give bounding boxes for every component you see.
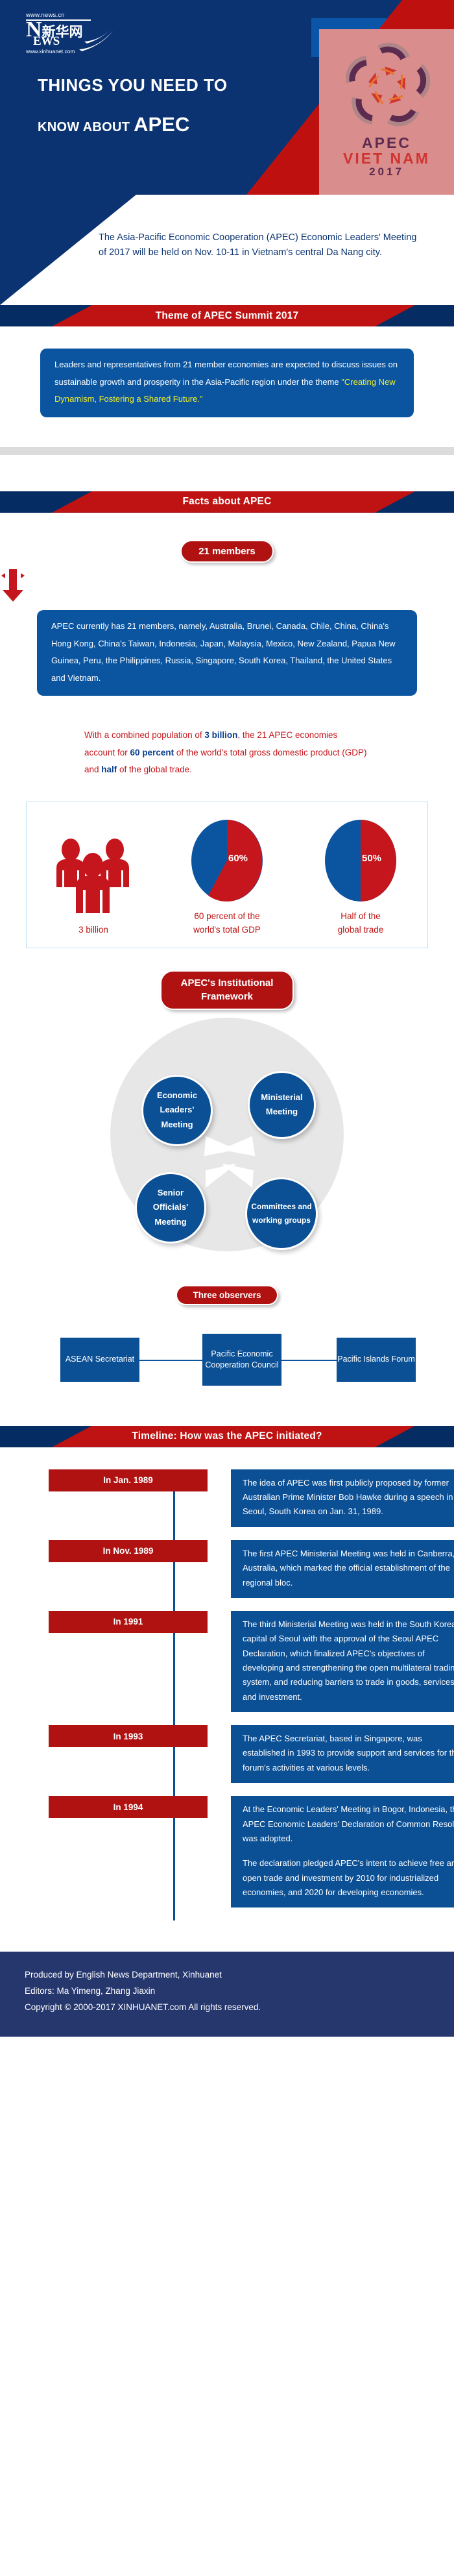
stat-trade-caption-l1: Half of the <box>302 910 419 924</box>
header-banner: APEC VIET NAM 2017 www.news.cn N 新华网 EWS… <box>0 0 454 195</box>
bubble-committees-working-groups[interactable]: Committees and working groups <box>245 1177 318 1250</box>
stat-trade-caption-l2: global trade <box>302 924 419 937</box>
footer: Produced by English News Department, Xin… <box>0 1952 454 2037</box>
pie-trade-value: 50% <box>362 853 381 864</box>
xinhua-logo[interactable]: www.news.cn N 新华网 EWS www.xinhuanet.com <box>26 12 104 55</box>
pill-21-members[interactable]: 21 members <box>180 540 274 563</box>
timeline-body: The APEC Secretariat, based in Singapore… <box>231 1725 454 1783</box>
stat-gdp: 60% 60 percent of the world's total GDP <box>169 819 285 937</box>
timeline-entry: In Nov. 1989 The first APEC Ministerial … <box>0 1540 454 1598</box>
pie-gdp-svg <box>191 819 263 902</box>
framework-pill-wrap: APEC's Institutional Framework <box>0 970 454 1010</box>
people-icon <box>51 833 136 916</box>
combined-stats-text: With a combined population of 3 billion,… <box>0 727 454 778</box>
stats-row: 3 billion 60% 60 percent of the world's … <box>27 819 427 937</box>
bubble-economic-leaders-meeting[interactable]: Economic Leaders' Meeting <box>141 1075 213 1146</box>
stat-gdp-caption-l1: 60 percent of the <box>169 910 285 924</box>
bubble-som-l1: Senior <box>153 1186 188 1201</box>
pill-institutional-framework[interactable]: APEC's Institutional Framework <box>160 970 294 1010</box>
apec-wordmark: APEC VIET NAM 2017 <box>319 135 454 178</box>
bubble-som-l3: Meeting <box>153 1215 188 1230</box>
bubble-mm-l2: Meeting <box>261 1105 302 1120</box>
combined-bold-3: half <box>101 765 117 774</box>
timeline-body: The idea of APEC was first publicly prop… <box>231 1469 454 1527</box>
combined-text-1: With a combined population of <box>84 730 204 740</box>
banner-timeline: Timeline: How was the APEC initiated? <box>0 1426 454 1447</box>
theme-card-wrap: Leaders and representatives from 21 memb… <box>0 349 454 417</box>
stat-trade-caption: Half of the global trade <box>302 910 419 937</box>
framework-diagram: Economic Leaders' Meeting Ministerial Me… <box>0 1010 454 1282</box>
pill-framework-l2: Framework <box>201 991 253 1002</box>
footer-copyright: Copyright © 2000-2017 XINHUANET.com All … <box>25 2000 454 2016</box>
timeline-entry: In Jan. 1989 The idea of APEC was first … <box>0 1469 454 1527</box>
members-card-wrap: APEC currently has 21 members, namely, A… <box>0 610 454 696</box>
bubble-elm-l2: Leaders' <box>157 1103 197 1118</box>
timeline-body: The third Ministerial Meeting was held i… <box>231 1611 454 1712</box>
timeline-entry: In 1994 At the Economic Leaders' Meeting… <box>0 1796 454 1907</box>
stats-box: 3 billion 60% 60 percent of the world's … <box>26 802 428 948</box>
apec-emblem-icon <box>331 36 444 136</box>
headline-line2-small: KNOW ABOUT <box>38 120 130 134</box>
timeline-entry: In 1991 The third Ministerial Meeting wa… <box>0 1611 454 1712</box>
timeline-paragraph: The idea of APEC was first publicly prop… <box>243 1476 454 1519</box>
bubble-som-l2: Officials' <box>153 1200 188 1215</box>
swoosh-icon <box>78 26 115 52</box>
members-pill-wrap: 21 members <box>0 540 454 563</box>
observer-asean-secretariat[interactable]: ASEAN Secretariat <box>60 1338 139 1382</box>
stat-population-caption: 3 billion <box>35 924 152 937</box>
theme-card: Leaders and representatives from 21 memb… <box>40 349 414 417</box>
pill-three-observers[interactable]: Three observers <box>176 1285 278 1305</box>
observer-pacific-islands-forum[interactable]: Pacific Islands Forum <box>337 1338 416 1382</box>
combined-bold-2: 60 percent <box>130 748 174 757</box>
timeline-date-badge: In 1993 <box>49 1725 208 1747</box>
headline-line2-big: APEC <box>134 113 189 136</box>
banner-facts: Facts about APEC <box>0 491 454 513</box>
timeline-entry: In 1993 The APEC Secretariat, based in S… <box>0 1725 454 1783</box>
page-title: THINGS YOU NEED TO KNOW ABOUT APEC <box>38 75 317 136</box>
observers-diagram: ASEAN Secretariat Pacific Economic Coope… <box>0 1317 454 1401</box>
headline-line1: THINGS YOU NEED TO <box>38 75 317 96</box>
timeline-date-badge: In 1991 <box>49 1611 208 1633</box>
timeline-date-badge: In Nov. 1989 <box>49 1540 208 1562</box>
pie-chart-gdp: 60% <box>191 819 263 902</box>
timeline-paragraph: The first APEC Ministerial Meeting was h… <box>243 1547 454 1590</box>
pie-gdp-value: 60% <box>228 853 248 864</box>
framework-arrows <box>0 1010 454 1282</box>
timeline-dot <box>169 1477 178 1486</box>
bubble-elm-l3: Meeting <box>157 1118 197 1133</box>
intro-section: The Asia-Pacific Economic Cooperation (A… <box>0 195 454 305</box>
observers-pill-wrap: Three observers <box>0 1285 454 1305</box>
timeline-date-badge: In Jan. 1989 <box>49 1469 208 1491</box>
timeline-dot <box>169 1548 178 1557</box>
combined-text-4: of the global trade. <box>117 765 192 774</box>
timeline-dot <box>169 1733 178 1742</box>
bubble-ministerial-meeting[interactable]: Ministerial Meeting <box>248 1071 316 1139</box>
bubble-mm-l1: Ministerial <box>261 1090 302 1105</box>
section-divider <box>0 447 454 455</box>
infographic-page: APEC VIET NAM 2017 www.news.cn N 新华网 EWS… <box>0 0 454 2037</box>
banner-theme-label: Theme of APEC Summit 2017 <box>0 305 454 326</box>
footer-produced-by: Produced by English News Department, Xin… <box>25 1967 454 1983</box>
combined-bold-1: 3 billion <box>204 730 237 740</box>
bubble-cwg-l2: working groups <box>251 1214 311 1227</box>
timeline-paragraph: The declaration pledged APEC's intent to… <box>243 1856 454 1900</box>
banner-theme: Theme of APEC Summit 2017 <box>0 305 454 326</box>
bubble-elm-l1: Economic <box>157 1088 197 1103</box>
members-card: APEC currently has 21 members, namely, A… <box>37 610 417 696</box>
bubble-senior-officials-meeting[interactable]: Senior Officials' Meeting <box>135 1172 206 1244</box>
pie-chart-trade: 50% <box>324 819 397 902</box>
stat-gdp-caption-l2: world's total GDP <box>169 924 285 937</box>
stat-trade: 50% Half of the global trade <box>302 819 419 937</box>
timeline-dot <box>169 1619 178 1628</box>
timeline-paragraph: At the Economic Leaders' Meeting in Bogo… <box>243 1802 454 1846</box>
timeline-body: The first APEC Ministerial Meeting was h… <box>231 1540 454 1598</box>
banner-facts-label: Facts about APEC <box>0 491 454 513</box>
footer-editors: Editors: Ma Yimeng, Zhang Jiaxin <box>25 1983 454 2000</box>
timeline-paragraph: The third Ministerial Meeting was held i… <box>243 1617 454 1704</box>
apec-wordmark-line2: VIET NAM <box>319 151 454 166</box>
banner-timeline-label: Timeline: How was the APEC initiated? <box>0 1426 454 1447</box>
intro-text: The Asia-Pacific Economic Cooperation (A… <box>99 230 423 261</box>
apec-wordmark-line1: APEC <box>319 135 454 151</box>
headline-line2: KNOW ABOUT APEC <box>38 113 317 136</box>
timeline-date-badge: In 1994 <box>49 1796 208 1818</box>
stat-population: 3 billion <box>35 833 152 937</box>
arrow-down-icon <box>0 569 26 603</box>
bubble-cwg-l1: Committees and <box>251 1200 311 1214</box>
observer-pecc[interactable]: Pacific Economic Cooperation Council <box>202 1334 281 1386</box>
pill-framework-l1: APEC's Institutional <box>181 977 274 988</box>
timeline-paragraph: The APEC Secretariat, based in Singapore… <box>243 1732 454 1775</box>
stat-gdp-caption: 60 percent of the world's total GDP <box>169 910 285 937</box>
timeline-list: In Jan. 1989 The idea of APEC was first … <box>0 1447 454 1928</box>
pie-trade-svg <box>324 819 397 902</box>
timeline-body: At the Economic Leaders' Meeting in Bogo… <box>231 1796 454 1907</box>
apec-wordmark-line3: 2017 <box>319 166 454 178</box>
